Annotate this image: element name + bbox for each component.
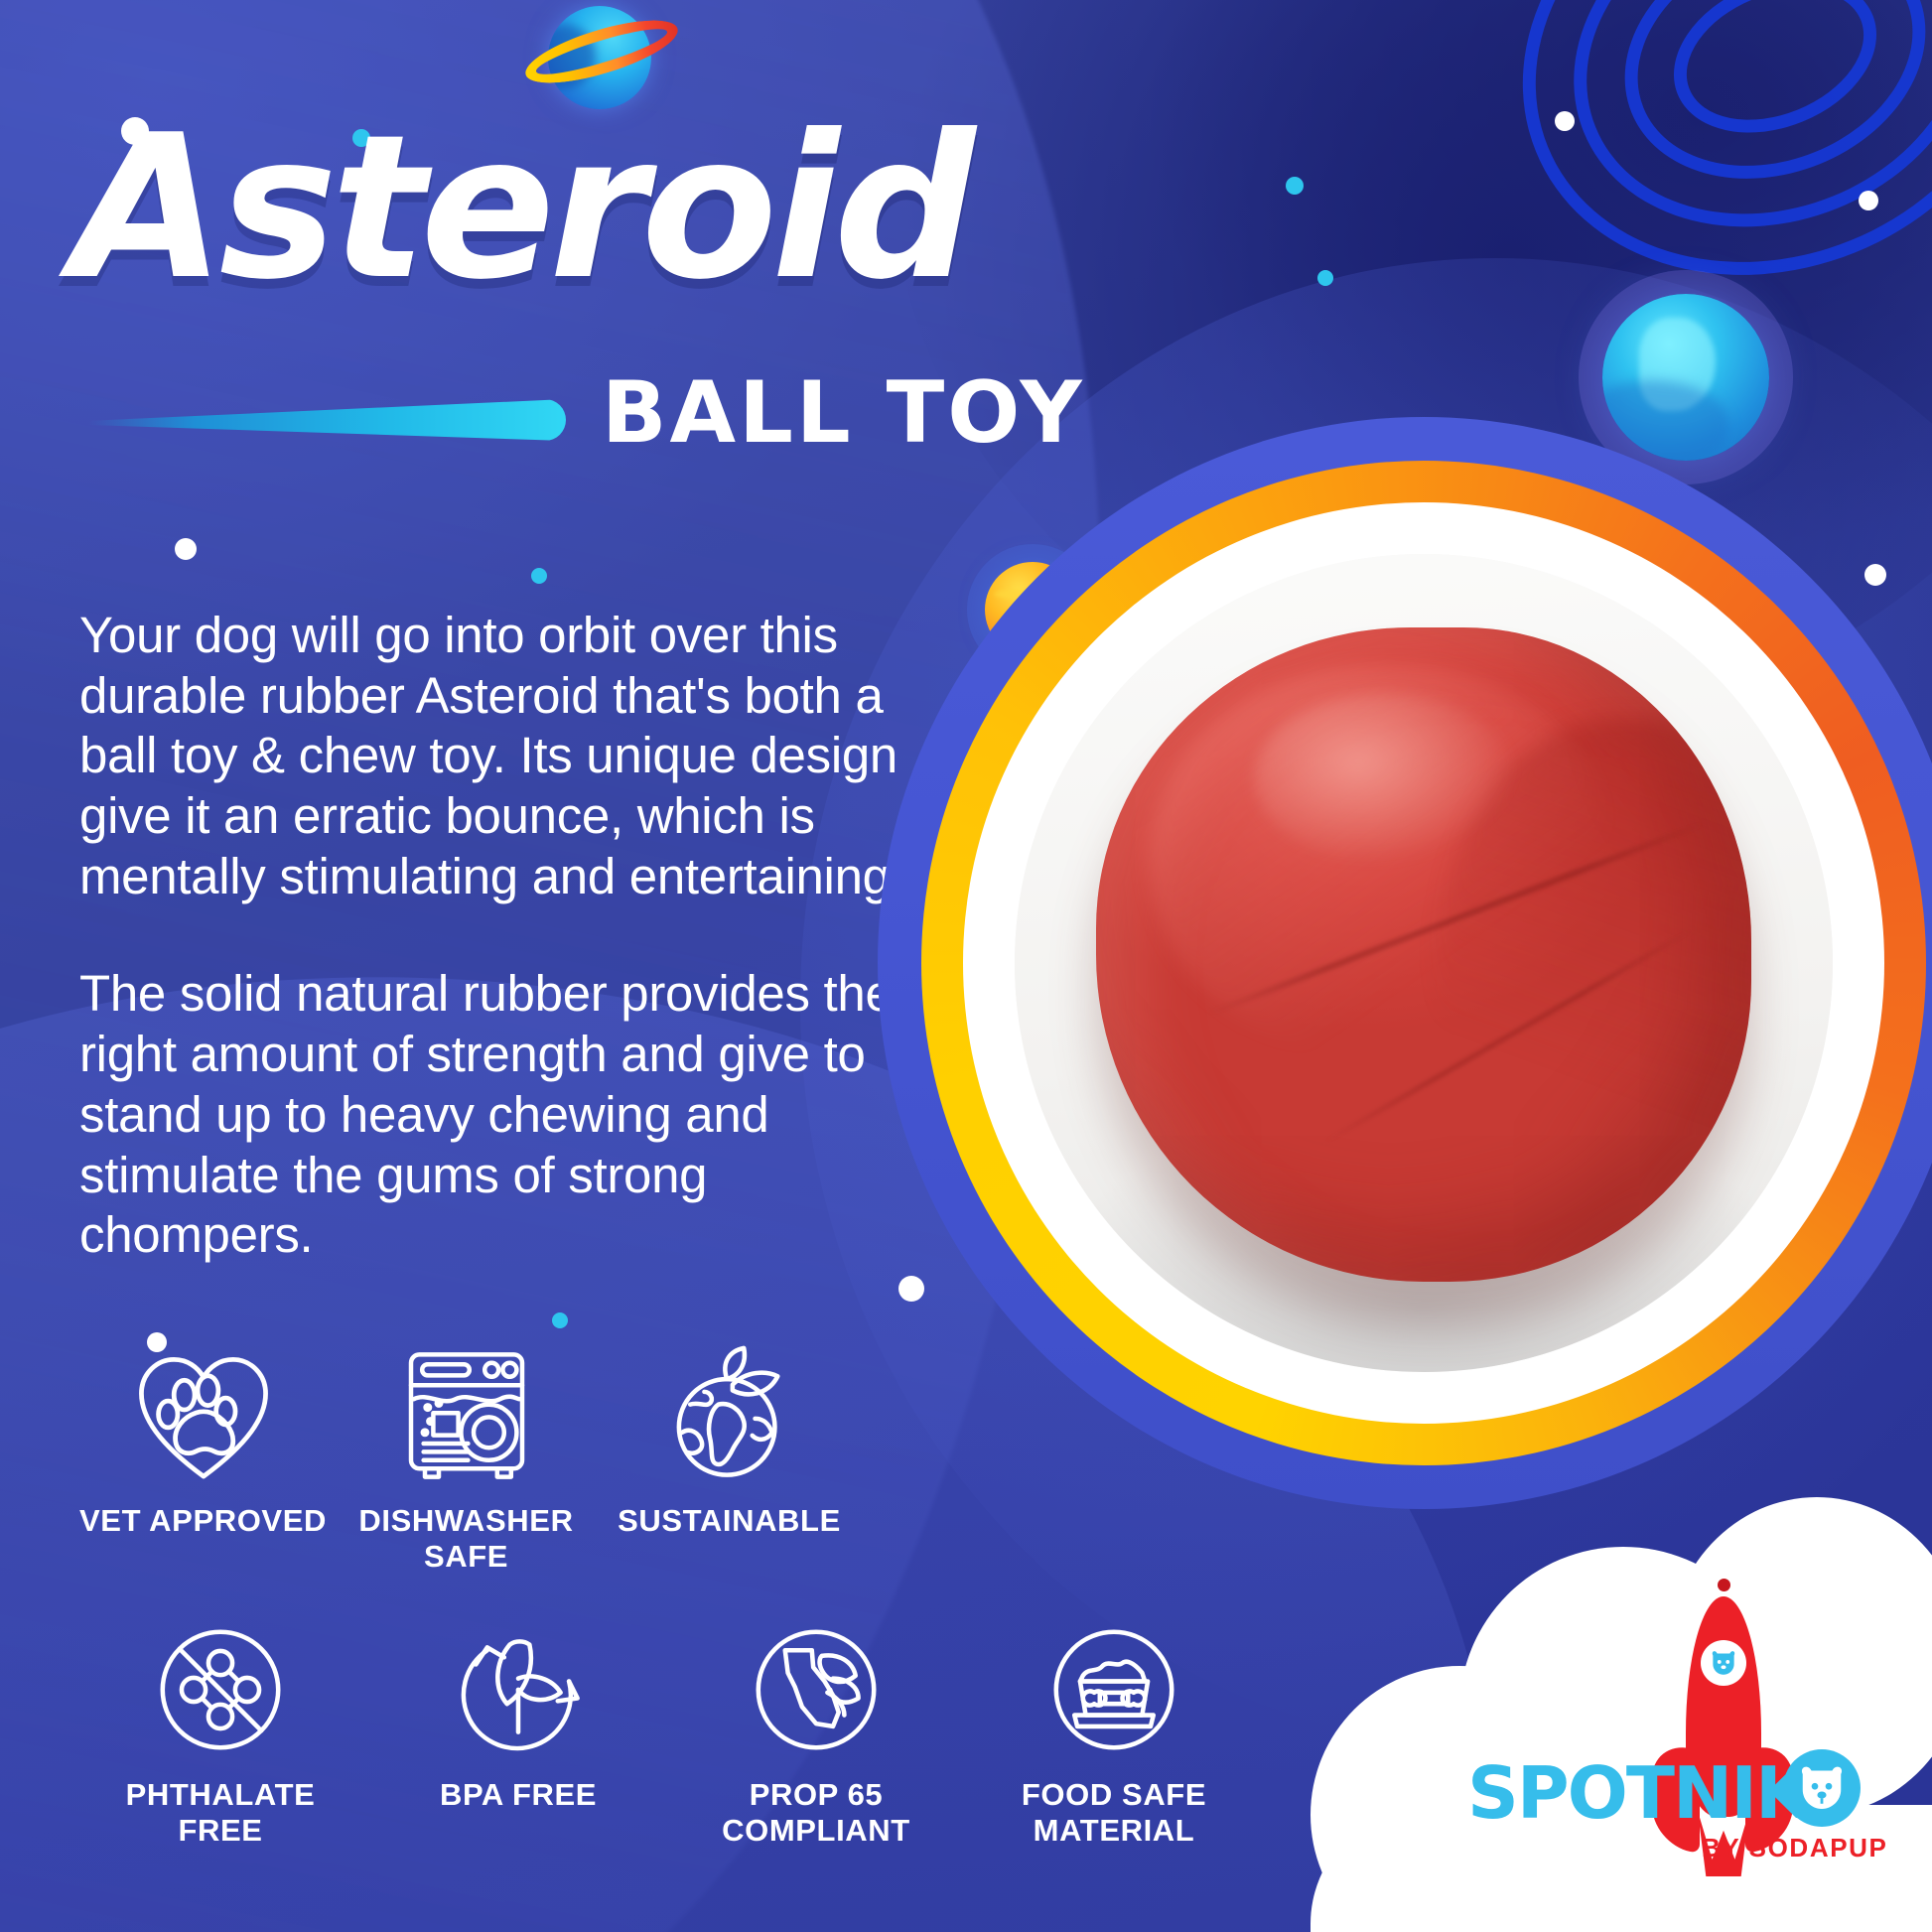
star-dot — [1317, 270, 1333, 286]
asteroid-ball — [1096, 627, 1750, 1282]
star-dot — [175, 538, 197, 560]
description-paragraph-2: The solid natural rubber provides the ri… — [79, 964, 953, 1265]
logo-tagline: BY SODAPUP — [1702, 1833, 1887, 1863]
logo-wordmark: SPOTNIK — [1467, 1751, 1809, 1835]
star-dot — [1555, 111, 1575, 131]
feature-vet-approved: VET APPROVED — [71, 1342, 335, 1575]
leaf-recycle-icon — [439, 1616, 598, 1763]
no-molecule-icon — [141, 1616, 300, 1763]
dog-bowl-icon — [1035, 1616, 1193, 1763]
feature-label: DISHWASHER SAFE — [335, 1503, 598, 1575]
feature-bpa-free: BPA FREE — [369, 1616, 667, 1849]
feature-sustainable: SUSTAINABLE — [598, 1342, 861, 1575]
heart-paw-icon — [124, 1342, 283, 1489]
title-block: Asteroid — [71, 117, 1183, 300]
rocket-window-dog-icon — [1701, 1640, 1746, 1686]
feature-prop65-compliant: PROP 65 COMPLIANT — [667, 1616, 965, 1849]
feature-row-bottom: PHTHALATE FREE BPA FREE — [71, 1616, 1263, 1849]
star-dot — [1859, 191, 1878, 210]
product-image-frame — [878, 417, 1932, 1509]
dishwasher-icon — [387, 1342, 546, 1489]
product-photo — [1015, 554, 1833, 1372]
star-dot — [1286, 177, 1304, 195]
feature-dishwasher-safe: DISHWASHER SAFE — [335, 1342, 598, 1575]
feature-label: SUSTAINABLE — [618, 1503, 841, 1539]
feature-label: BPA FREE — [440, 1777, 597, 1813]
california-leaf-icon — [737, 1616, 896, 1763]
description-block: Your dog will go into orbit over this du… — [79, 606, 953, 1266]
globe-leaf-icon — [650, 1342, 809, 1489]
page-title: Asteroid — [71, 117, 1183, 300]
feature-row-top: VET APPROVED — [71, 1342, 861, 1575]
description-paragraph-1: Your dog will go into orbit over this du… — [79, 606, 953, 906]
feature-label: PROP 65 COMPLIANT — [722, 1777, 910, 1849]
feature-label: PHTHALATE FREE — [126, 1777, 316, 1849]
star-dot — [531, 568, 547, 584]
feature-label: VET APPROVED — [79, 1503, 327, 1539]
star-dot — [552, 1312, 568, 1328]
feature-phthalate-free: PHTHALATE FREE — [71, 1616, 369, 1849]
feature-label: FOOD SAFE MATERIAL — [1022, 1777, 1206, 1849]
logo-dog-face-icon — [1783, 1749, 1861, 1827]
comet-streak-icon — [89, 399, 566, 441]
brand-logo[interactable]: SPOTNIK BY SODAPUP — [1467, 1716, 1904, 1884]
product-infographic: Asteroid BALL TOY Your dog will go into … — [0, 0, 1932, 1932]
feature-food-safe-material: FOOD SAFE MATERIAL — [965, 1616, 1263, 1849]
